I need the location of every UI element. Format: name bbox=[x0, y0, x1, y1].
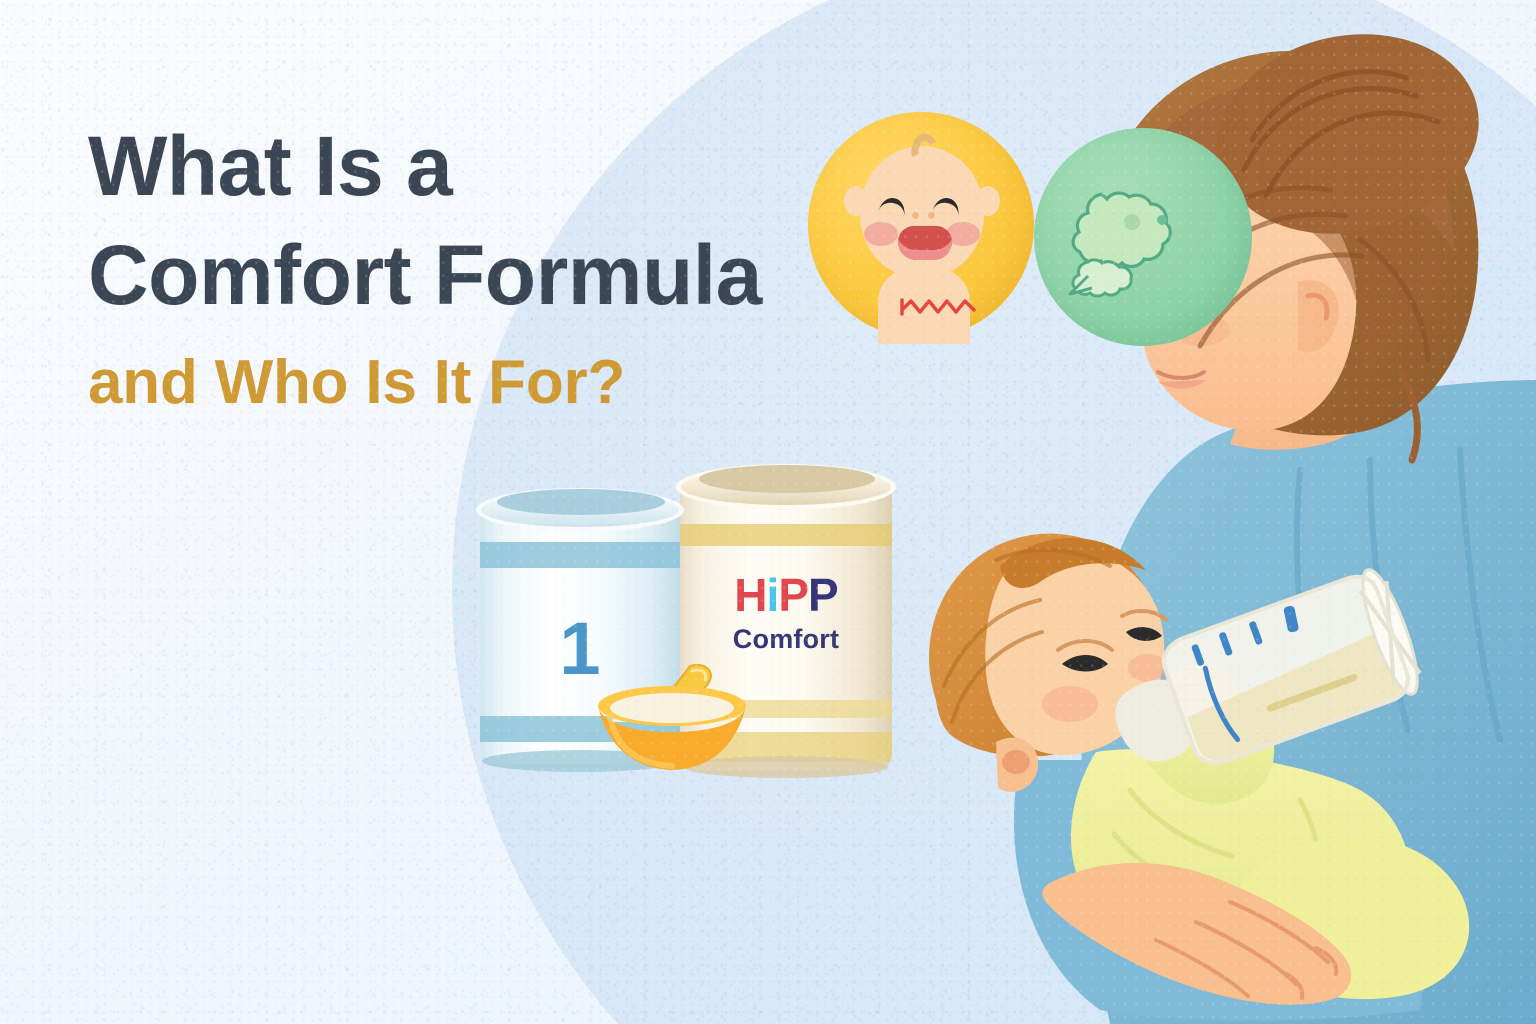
headline-line-2: Comfort Formula bbox=[88, 221, 848, 330]
baby-crying-mouth-icon bbox=[898, 226, 952, 260]
hipp-can-stripe-top bbox=[680, 524, 892, 546]
hipp-letter-i: i bbox=[767, 569, 779, 621]
baby-nostril-left-icon bbox=[912, 212, 919, 219]
stage-one-can-opening bbox=[497, 489, 665, 515]
article-header-banner: What Is a Comfort Formula and Who Is It … bbox=[0, 0, 1536, 1024]
subheadline: and Who Is It For? bbox=[88, 348, 848, 417]
hipp-letter-p1: P bbox=[778, 569, 808, 621]
digestion-cloud-badge bbox=[1034, 128, 1252, 346]
baby-cheek bbox=[1042, 686, 1098, 722]
hipp-letter-h: H bbox=[734, 569, 766, 621]
formula-bowl bbox=[592, 658, 752, 776]
hipp-letter-p2: P bbox=[808, 569, 838, 621]
baby-cheek-left-icon bbox=[864, 222, 898, 246]
hipp-wordmark: HiPP bbox=[680, 572, 892, 618]
hipp-can-opening bbox=[699, 465, 875, 493]
headline-block: What Is a Comfort Formula and Who Is It … bbox=[88, 112, 848, 418]
stage-one-can-rim bbox=[476, 488, 684, 532]
hipp-variant-label: Comfort bbox=[680, 624, 892, 655]
headline-line-1: What Is a bbox=[88, 112, 848, 221]
bowl-inner bbox=[610, 693, 734, 723]
product-group: HiPP Comfort 1 bbox=[470, 480, 900, 800]
gas-cloud-icon bbox=[1058, 158, 1228, 318]
stage-one-can-stripe-top bbox=[480, 542, 680, 568]
hipp-logo: HiPP Comfort bbox=[680, 572, 892, 655]
tummy-ache-zigzag-icon bbox=[900, 298, 978, 316]
hipp-can-rim bbox=[676, 464, 896, 510]
baby-nostril-right-icon bbox=[928, 212, 935, 219]
